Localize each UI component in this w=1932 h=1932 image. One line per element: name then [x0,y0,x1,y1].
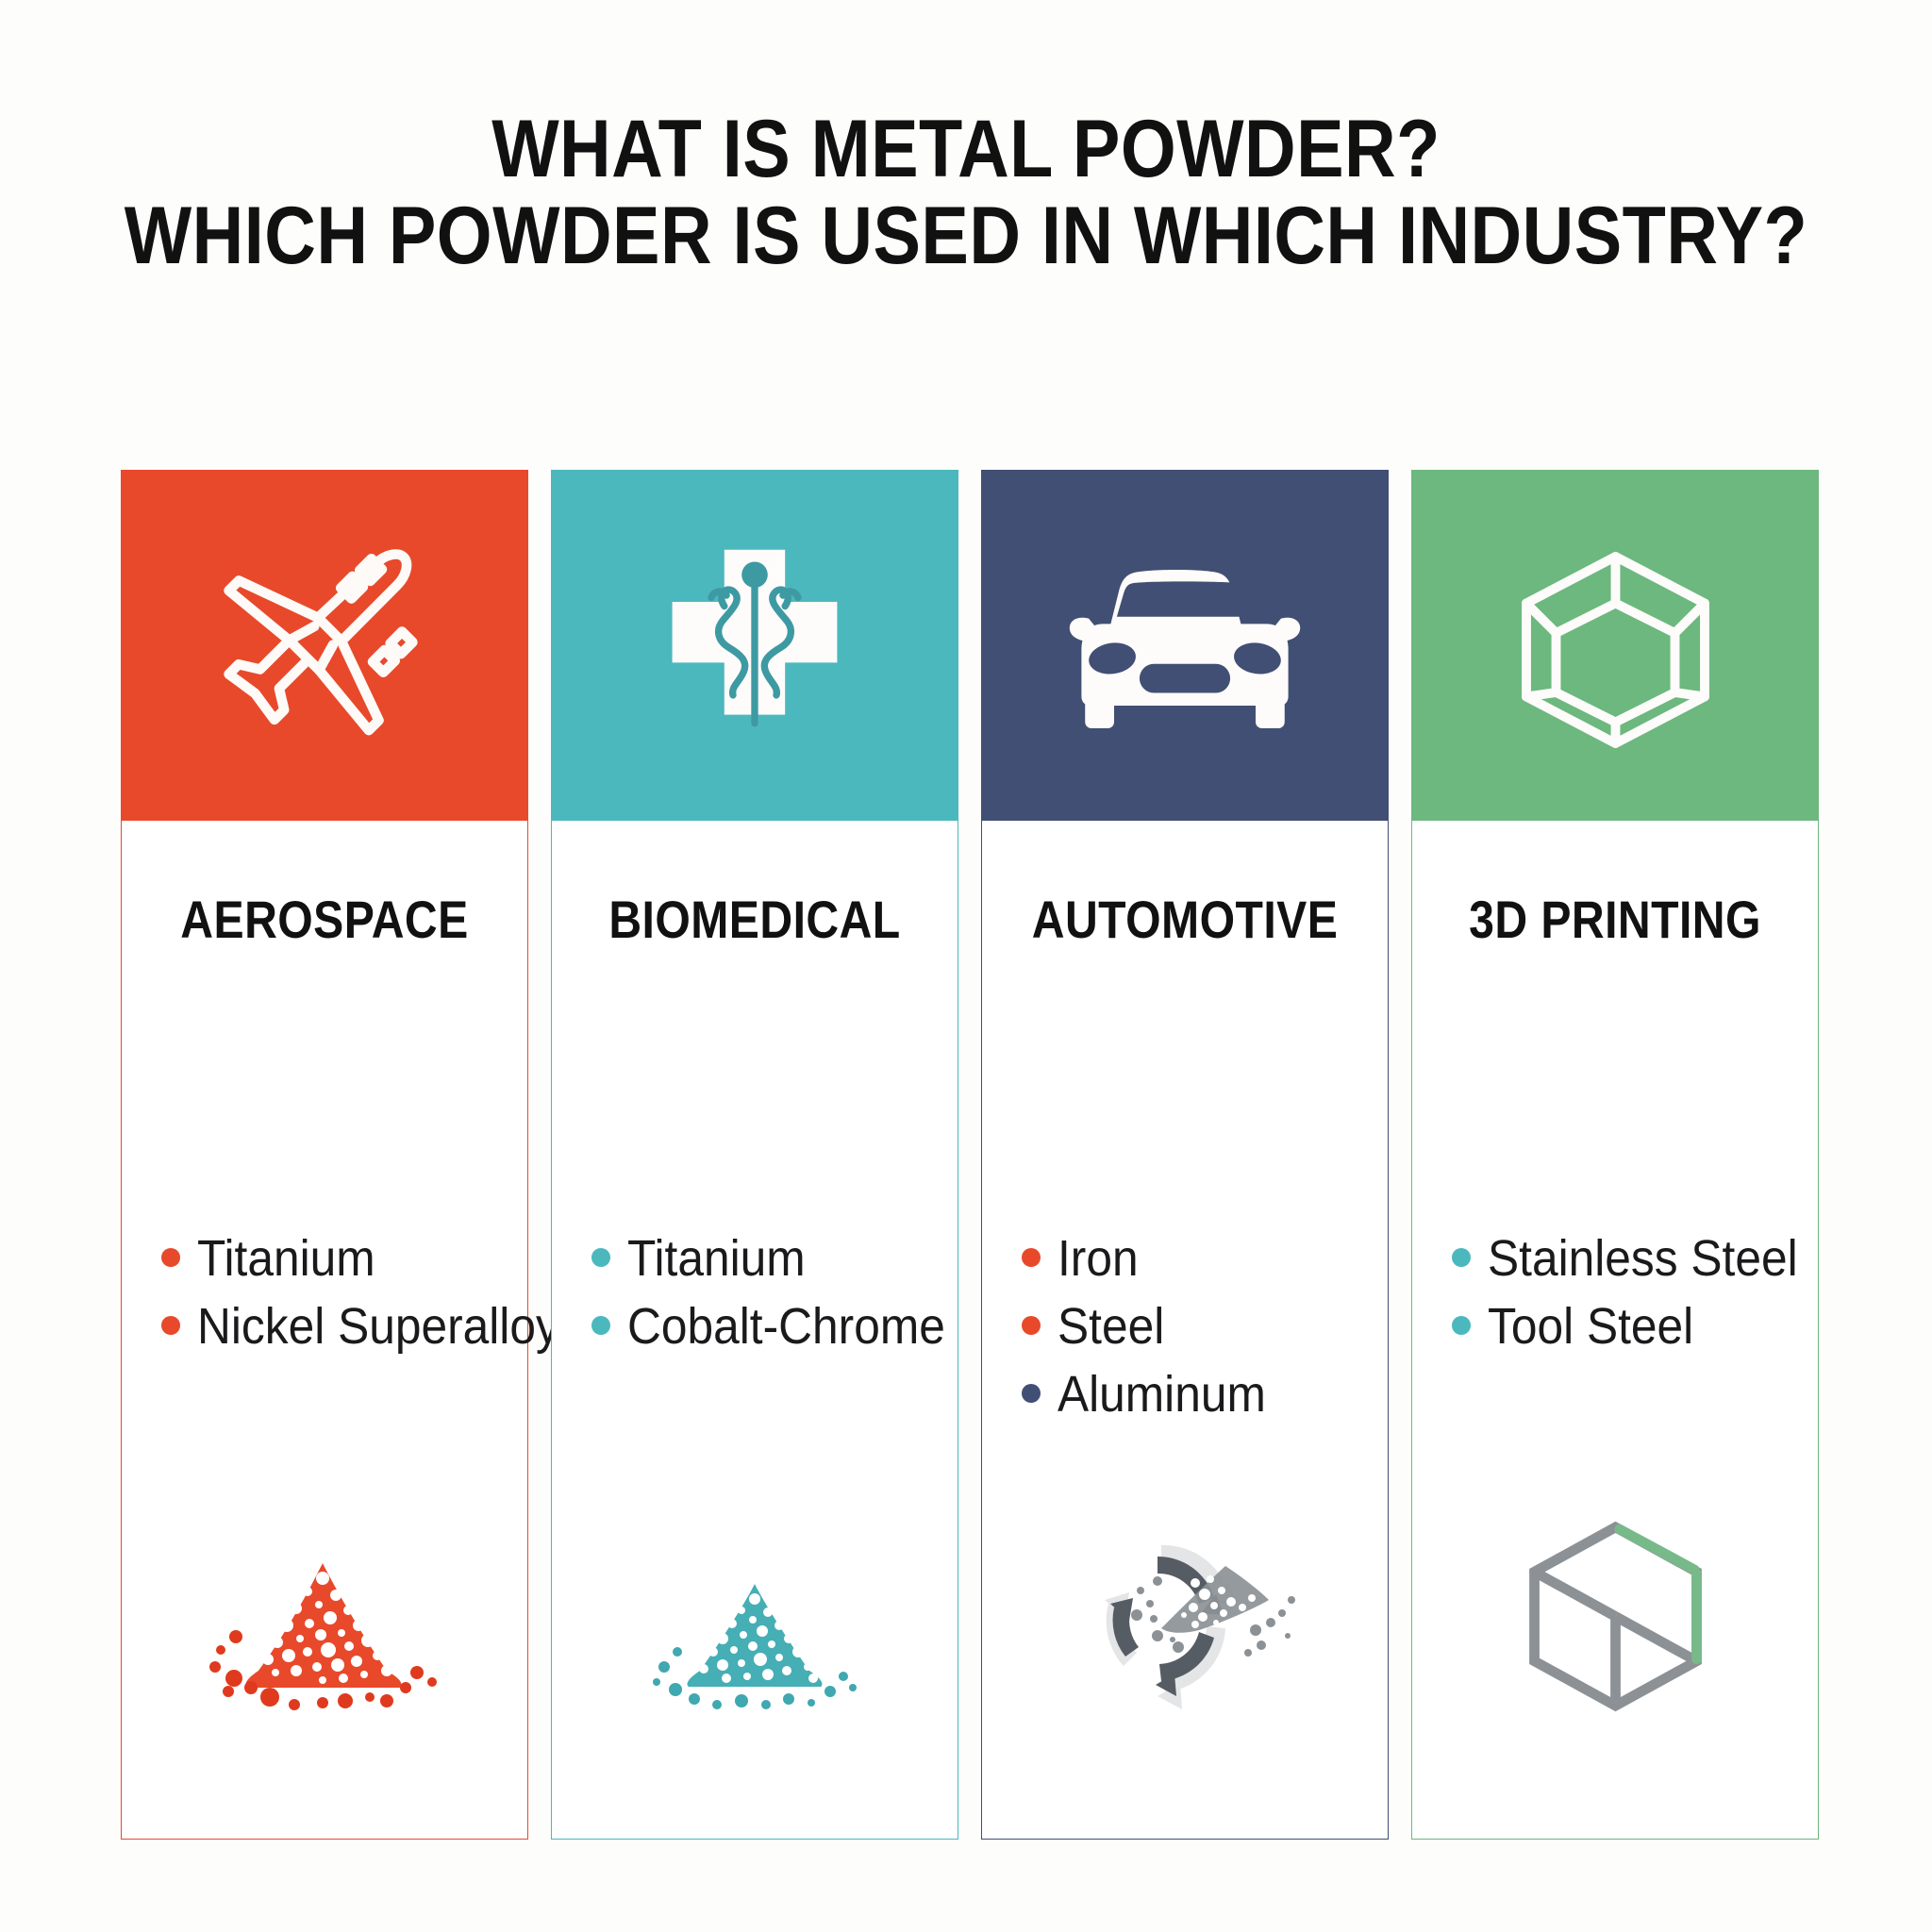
industry-columns: AEROSPACE Titanium Nickel Superalloys [121,470,1819,1840]
powder-label: Cobalt-Chrome [627,1296,945,1358]
powder-label: Tool Steel [1488,1296,1693,1358]
powder-label: Stainless Steel [1488,1228,1798,1291]
wireframe-cube-icon [1509,540,1722,752]
bullet-dot-icon [161,1248,180,1267]
card-header-biomedical [551,470,958,821]
industry-card-biomedical[interactable]: BIOMEDICAL Titanium Cobalt-Chrome [551,470,958,1840]
bullet-dot-icon [1022,1384,1041,1403]
list-item[interactable]: Steel [1022,1296,1376,1358]
list-item[interactable]: Cobalt-Chrome [591,1296,946,1358]
card-title-3d-printing: 3D PRINTING [1441,889,1790,950]
industry-card-automotive[interactable]: AUTOMOTIVE Iron Steel Aluminum [981,470,1389,1840]
powder-label: Nickel Superalloys [197,1296,583,1358]
card-header-aerospace [121,470,528,821]
card-title-aerospace: AEROSPACE [150,889,499,950]
powder-list-biomedical: Titanium Cobalt-Chrome [591,1228,946,1364]
powder-label: Titanium [627,1228,806,1291]
list-item[interactable]: Aluminum [1022,1364,1376,1426]
bullet-dot-icon [1452,1316,1471,1335]
powder-list-3d-printing: Stainless Steel Tool Steel [1452,1228,1807,1364]
powder-list-aerospace: Titanium Nickel Superalloys [161,1228,516,1364]
car-front-icon [1067,558,1303,733]
card-title-automotive: AUTOMOTIVE [1010,889,1359,950]
bullet-dot-icon [161,1316,180,1335]
medical-cross-caduceus-icon [646,537,863,754]
list-item[interactable]: Titanium [591,1228,946,1291]
industry-card-aerospace[interactable]: AEROSPACE Titanium Nickel Superalloys [121,470,528,1840]
powder-label: Aluminum [1058,1364,1266,1426]
airplane-icon [216,537,433,754]
bullet-dot-icon [591,1316,610,1335]
industry-card-3d-printing[interactable]: 3D PRINTING Stainless Steel Tool Steel [1411,470,1819,1840]
page-title-line-1: WHAT IS METAL POWDER? [116,106,1816,192]
gray-wireframe-cube-icon [1412,1501,1818,1718]
card-body-aerospace: AEROSPACE Titanium Nickel Superalloys [121,821,528,1840]
bullet-dot-icon [591,1248,610,1267]
card-header-3d-printing [1411,470,1819,821]
powder-label: Steel [1058,1296,1164,1358]
bullet-dot-icon [1022,1316,1041,1335]
bullet-dot-icon [1452,1248,1471,1267]
list-item[interactable]: Iron [1022,1228,1376,1291]
list-item[interactable]: Titanium [161,1228,516,1291]
bullet-dot-icon [1022,1248,1041,1267]
teal-powder-pile-icon [552,1501,958,1718]
powder-list-automotive: Iron Steel Aluminum [1022,1228,1376,1432]
recycle-powder-icon [982,1501,1388,1718]
card-body-biomedical: BIOMEDICAL Titanium Cobalt-Chrome [551,821,958,1840]
card-header-automotive [981,470,1389,821]
page-title-line-2: WHICH POWDER IS USED IN WHICH INDUSTRY? [116,192,1816,279]
card-title-biomedical: BIOMEDICAL [580,889,929,950]
card-body-3d-printing: 3D PRINTING Stainless Steel Tool Steel [1411,821,1819,1840]
powder-label: Iron [1058,1228,1139,1291]
red-powder-pile-icon [122,1501,527,1718]
list-item[interactable]: Nickel Superalloys [161,1296,516,1358]
list-item[interactable]: Tool Steel [1452,1296,1807,1358]
powder-label: Titanium [197,1228,375,1291]
page-title: WHAT IS METAL POWDER? WHICH POWDER IS US… [0,106,1932,279]
list-item[interactable]: Stainless Steel [1452,1228,1807,1291]
card-body-automotive: AUTOMOTIVE Iron Steel Aluminum [981,821,1389,1840]
